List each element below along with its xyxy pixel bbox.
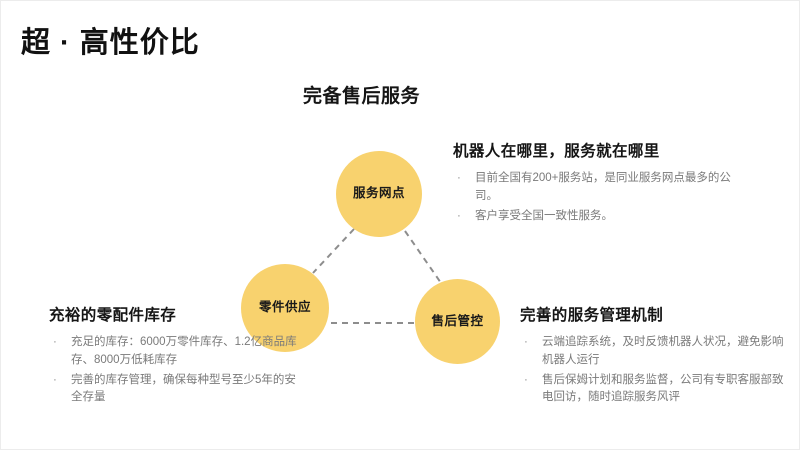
- slide-canvas: 超 · 高性价比 完备售后服务 服务网点 零件供应 售后管控 机器人在哪里，服务…: [0, 0, 800, 450]
- text-block-service-management: 完善的服务管理机制 · 云端追踪系统，及时反馈机器人状况，避免影响机器人运行 ·…: [520, 303, 792, 409]
- list-item: · 充足的库存：6000万零件库存、1.2亿商品库存、8000万低耗库存: [49, 334, 301, 370]
- node-label: 服务网点: [353, 187, 405, 201]
- list-item-text: 充足的库存：6000万零件库存、1.2亿商品库存、8000万低耗库存: [71, 336, 297, 366]
- bullet-dot-icon: ·: [457, 170, 461, 188]
- list-item-text: 售后保姆计划和服务监督，公司有专职客服部致电回访，随时追踪服务风评: [542, 374, 784, 404]
- list-item: · 云端追踪系统，及时反馈机器人状况，避免影响机器人运行: [520, 334, 792, 370]
- bullet-dot-icon: ·: [53, 334, 57, 352]
- bullet-list: · 云端追踪系统，及时反馈机器人状况，避免影响机器人运行 · 售后保姆计划和服务…: [520, 334, 792, 407]
- diagram-node-service-network[interactable]: 服务网点: [336, 151, 422, 237]
- list-item: · 目前全国有200+服务站，是同业服务网点最多的公司。: [453, 170, 753, 206]
- bullet-dot-icon: ·: [524, 334, 528, 352]
- connector-top-left: [313, 229, 354, 273]
- node-label: 售后管控: [431, 315, 483, 329]
- list-item: · 客户享受全国一致性服务。: [453, 208, 753, 226]
- page-title: 超 · 高性价比: [21, 19, 200, 61]
- bullet-dot-icon: ·: [53, 372, 57, 390]
- bullet-dot-icon: ·: [457, 208, 461, 226]
- connector-top-right: [405, 231, 441, 283]
- block-heading: 充裕的零配件库存: [49, 303, 301, 325]
- block-heading: 机器人在哪里，服务就在哪里: [453, 139, 753, 161]
- list-item-text: 客户享受全国一致性服务。: [475, 210, 613, 222]
- list-item: · 完善的库存管理，确保每种型号至少5年的安全存量: [49, 372, 301, 408]
- diagram-node-aftersales-control[interactable]: 售后管控: [415, 279, 500, 364]
- list-item-text: 云端追踪系统，及时反馈机器人状况，避免影响机器人运行: [542, 336, 784, 366]
- text-block-service-network: 机器人在哪里，服务就在哪里 · 目前全国有200+服务站，是同业服务网点最多的公…: [453, 139, 753, 227]
- list-item-text: 完善的库存管理，确保每种型号至少5年的安全存量: [71, 374, 296, 404]
- list-item: · 售后保姆计划和服务监督，公司有专职客服部致电回访，随时追踪服务风评: [520, 372, 792, 408]
- bullet-list: · 目前全国有200+服务站，是同业服务网点最多的公司。 · 客户享受全国一致性…: [453, 170, 753, 225]
- bullet-dot-icon: ·: [524, 372, 528, 390]
- bullet-list: · 充足的库存：6000万零件库存、1.2亿商品库存、8000万低耗库存 · 完…: [49, 334, 301, 407]
- block-heading: 完善的服务管理机制: [520, 303, 792, 325]
- list-item-text: 目前全国有200+服务站，是同业服务网点最多的公司。: [475, 172, 731, 202]
- text-block-parts-inventory: 充裕的零配件库存 · 充足的库存：6000万零件库存、1.2亿商品库存、8000…: [49, 303, 301, 409]
- slide-subtitle: 完备售后服务: [303, 81, 420, 108]
